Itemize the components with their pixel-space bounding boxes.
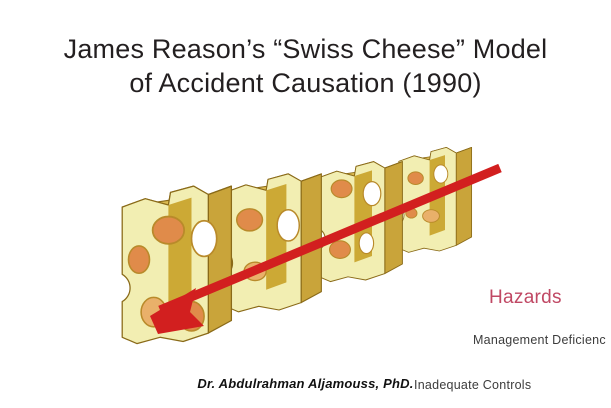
cheese-hole-filled (330, 241, 351, 259)
slide-canvas: James Reason’s “Swiss Cheese” Model of A… (0, 0, 611, 408)
cheese-hole-open (363, 182, 381, 206)
swiss-cheese-diagram: Hazards Accident Management Deficienc In… (0, 120, 611, 360)
cheese-hole-filled (423, 210, 440, 223)
cheese-hole-filled (331, 180, 352, 198)
cheese-hole-open (359, 233, 373, 254)
cheese-hole-open (434, 165, 448, 183)
label-management-deficiencies: Management Deficienc (473, 333, 606, 347)
cheese-hole-filled (408, 172, 423, 185)
page-title: James Reason’s “Swiss Cheese” Model of A… (0, 32, 611, 100)
swiss-cheese-illustration (0, 120, 611, 360)
cheese-hole-filled (153, 217, 185, 244)
label-hazards: Hazards (489, 287, 562, 309)
cheese-slice-physical-failures (226, 174, 322, 312)
page-title-line-2: of Accident Causation (1990) (0, 66, 611, 100)
cheese-hole-filled (129, 246, 150, 273)
page-title-line-1: James Reason’s “Swiss Cheese” Model (0, 32, 611, 66)
author-attribution: Dr. Abdulrahman Aljamouss, PhD. (0, 376, 611, 391)
cheese-hole-open (277, 210, 299, 241)
cheese-hole-filled (237, 209, 263, 231)
cheese-hole-open (192, 221, 217, 257)
